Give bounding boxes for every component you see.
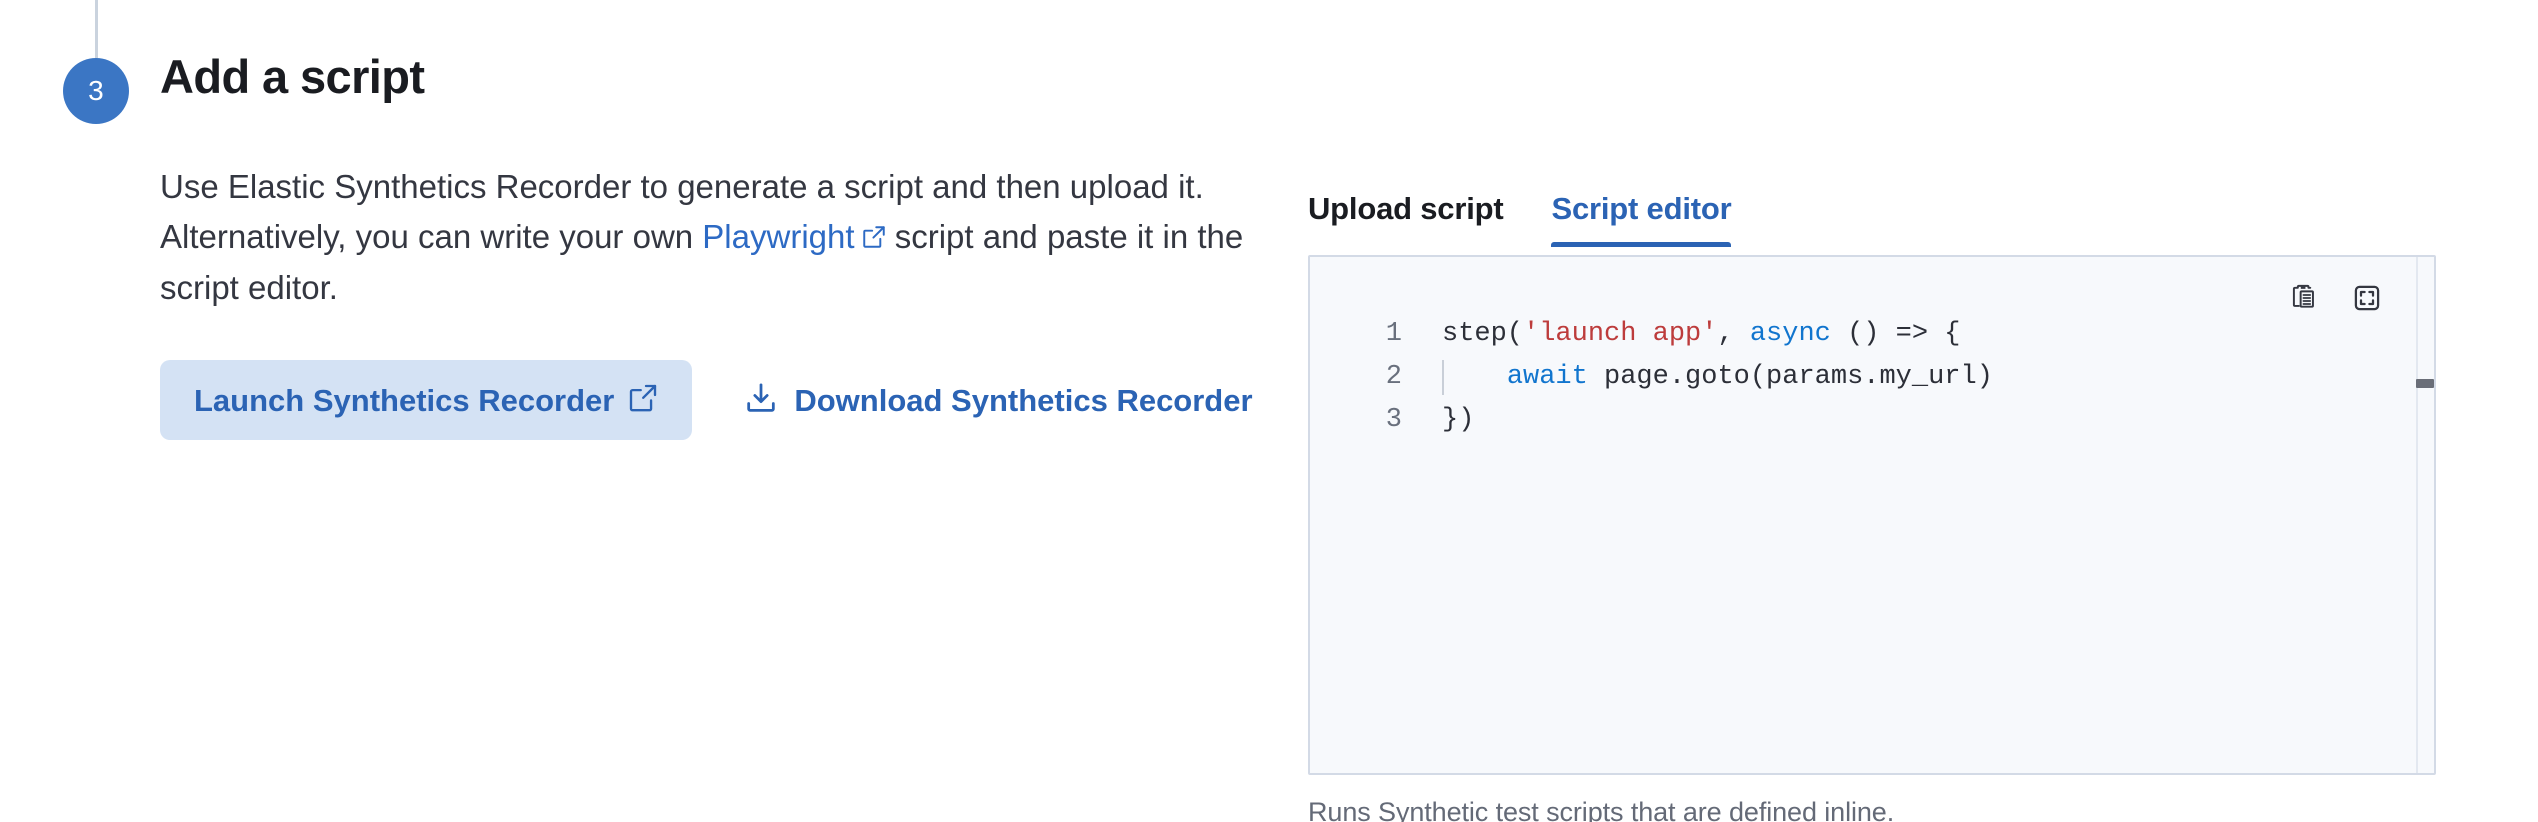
code-line: 1step('launch app', async () => { — [1310, 313, 2434, 356]
code-line: 3}) — [1310, 399, 2434, 442]
code-content[interactable]: 1step('launch app', async () => {2 await… — [1310, 313, 2434, 773]
left-content-column: Add a script Use Elastic Synthetics Reco… — [160, 50, 1260, 313]
expand-icon — [2352, 301, 2382, 316]
code-token-plain: () => { — [1831, 319, 1961, 349]
external-link-icon — [628, 383, 658, 418]
action-button-row: Launch Synthetics Recorder Download Synt… — [160, 360, 1253, 440]
code-token-plain: page.goto(params.my_url) — [1588, 362, 1993, 392]
script-code-editor[interactable]: 1step('launch app', async () => {2 await… — [1308, 255, 2436, 775]
code-token-string: 'launch app' — [1523, 319, 1717, 349]
download-icon — [744, 381, 778, 420]
launch-synthetics-recorder-button[interactable]: Launch Synthetics Recorder — [160, 360, 692, 440]
expand-icon-button[interactable] — [2348, 279, 2386, 317]
tab-script-editor[interactable]: Script editor — [1551, 191, 1731, 247]
code-token-plain: , — [1717, 319, 1749, 349]
line-number: 2 — [1310, 356, 1424, 399]
code-token-plain — [1442, 362, 1507, 392]
editor-caption: Runs Synthetic test scripts that are def… — [1308, 797, 2438, 822]
code-token-keyword: async — [1750, 319, 1831, 349]
playwright-link-label: Playwright — [702, 218, 854, 255]
code-line-text: step('launch app', async () => { — [1424, 313, 1961, 356]
tab-upload-script[interactable]: Upload script — [1308, 191, 1503, 247]
script-source-tabs: Upload script Script editor — [1308, 175, 2438, 247]
line-number: 1 — [1310, 313, 1424, 356]
page-title: Add a script — [160, 50, 1260, 104]
add-script-step-panel: 3 Add a script Use Elastic Synthetics Re… — [0, 0, 2538, 822]
copy-icon — [2290, 301, 2320, 316]
editor-scrollbar-thumb[interactable] — [2416, 379, 2434, 388]
indent-guide — [1442, 360, 1444, 395]
step-connector-line — [95, 0, 98, 58]
download-synthetics-recorder-button[interactable]: Download Synthetics Recorder — [744, 381, 1252, 420]
copy-icon-button[interactable] — [2286, 279, 2324, 317]
external-link-icon — [862, 213, 886, 263]
code-token-keyword: await — [1507, 362, 1588, 392]
description-text: Use Elastic Synthetics Recorder to gener… — [160, 162, 1260, 313]
script-panel: Upload script Script editor 1step('launc… — [1308, 175, 2438, 822]
download-synthetics-recorder-label: Download Synthetics Recorder — [794, 385, 1252, 416]
launch-synthetics-recorder-label: Launch Synthetics Recorder — [194, 385, 614, 416]
editor-tool-row — [2286, 279, 2386, 317]
code-line-text: await page.goto(params.my_url) — [1424, 356, 1993, 399]
code-token-plain: }) — [1442, 405, 1474, 435]
code-token-plain: step( — [1442, 319, 1523, 349]
editor-scrollbar-rail[interactable] — [2416, 257, 2434, 773]
line-number: 3 — [1310, 399, 1424, 442]
code-line: 2 await page.goto(params.my_url) — [1310, 356, 2434, 399]
code-line-text: }) — [1424, 399, 1474, 442]
step-number-badge: 3 — [63, 58, 129, 124]
playwright-link[interactable]: Playwright — [702, 218, 885, 255]
